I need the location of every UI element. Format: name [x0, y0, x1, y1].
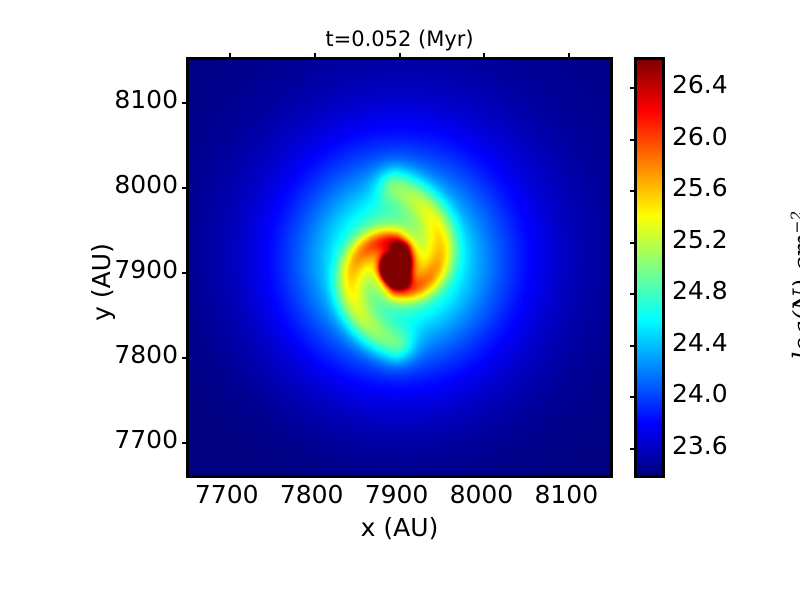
x-axis-label: x (AU)	[186, 514, 613, 542]
x-tick-mark	[399, 53, 401, 60]
x-tick-label: 7900	[365, 481, 429, 509]
colorbar-tick-mark	[630, 190, 637, 192]
plot-title: t=0.052 (Myr)	[186, 27, 613, 51]
x-tick-label: 7700	[195, 481, 259, 509]
colorbar-gradient	[637, 60, 662, 475]
colorbar-tick-mark	[630, 139, 637, 141]
colorbar-tick-mark	[630, 345, 637, 347]
x-tick-label: 8100	[534, 481, 598, 509]
colorbar-tick-mark	[630, 396, 637, 398]
density-map-axes	[186, 57, 613, 478]
colorbar-tick-label-text: 25.6	[672, 174, 728, 202]
x-tick-mark	[229, 53, 231, 60]
figure-canvas: t=0.052 (Myr) x (AU) y (AU) log(N) cm−2 …	[0, 0, 800, 600]
x-tick-mark	[314, 53, 316, 60]
y-tick-label-text: 8100	[114, 86, 178, 114]
y-axis-label: y (AU)	[88, 162, 116, 402]
colorbar-label-text: log(N) cm	[788, 234, 800, 360]
x-tick-label: 7800	[280, 481, 344, 509]
y-tick-mark	[182, 187, 189, 189]
colorbar-tick-mark	[630, 242, 637, 244]
colorbar-tick-label-text: 24.4	[672, 329, 728, 357]
colorbar-tick-label-text: 26.4	[672, 71, 728, 99]
y-tick-label-text: 7800	[114, 341, 178, 369]
colorbar-tick-label-text: 26.0	[672, 123, 728, 151]
y-tick-label-text: 7700	[114, 426, 178, 454]
colorbar-tick-label-text: 23.6	[672, 432, 728, 460]
colorbar-label: log(N) cm−2	[783, 135, 800, 435]
colorbar-tick-mark	[630, 87, 637, 89]
y-tick-mark	[182, 442, 189, 444]
y-tick-mark	[182, 102, 189, 104]
y-tick-mark	[182, 272, 189, 274]
colorbar-tick-label-text: 24.0	[672, 380, 728, 408]
colorbar-tick-label-text: 25.2	[672, 226, 728, 254]
y-tick-label-text: 8000	[114, 171, 178, 199]
x-tick-mark	[483, 53, 485, 60]
y-tick-label-text: 7900	[114, 256, 178, 284]
x-tick-label: 8000	[450, 481, 514, 509]
colorbar-tick-label-text: 24.8	[672, 277, 728, 305]
colorbar-tick-mark	[630, 293, 637, 295]
y-tick-mark	[182, 357, 189, 359]
x-tick-mark	[568, 53, 570, 60]
colorbar	[634, 57, 665, 478]
column-density-heatmap	[189, 60, 610, 475]
colorbar-tick-mark	[630, 448, 637, 450]
colorbar-label-exponent: −2	[788, 211, 800, 234]
